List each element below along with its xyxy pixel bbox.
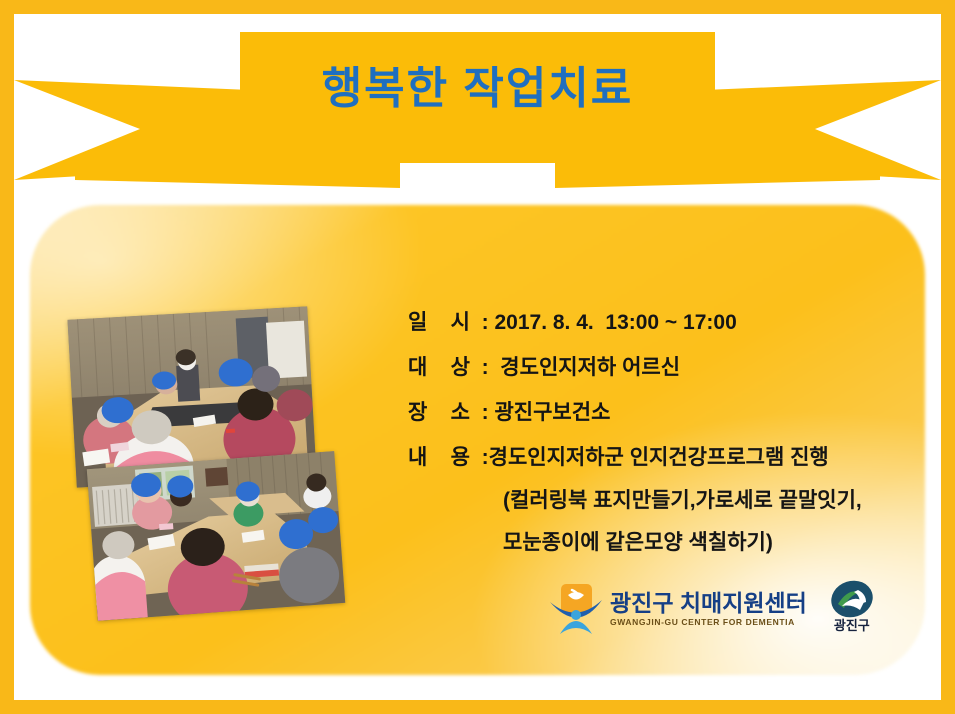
activity-photo-2	[87, 451, 345, 621]
detail-row-content-continued-1: (컬러링북 표지만들기,가로세로 끝말잇기,	[408, 480, 908, 522]
frame-border-right	[941, 0, 955, 714]
gwangjin-gu-emblem: 광진구	[821, 580, 883, 638]
frame-border-bottom	[0, 700, 955, 714]
frame-border-top	[0, 0, 955, 14]
detail-row-datetime: 일 시 : 2017. 8. 4. 13:00 ~ 17:00	[408, 300, 908, 345]
logo-subtitle: GWANGJIN-GU CENTER FOR DEMENTIA	[610, 616, 807, 628]
logo-title: 광진구 치매지원센터	[610, 590, 807, 616]
event-details: 일 시 : 2017. 8. 4. 13:00 ~ 17:00 대 상 : 경도…	[408, 300, 908, 564]
detail-row-content-continued-2: 모눈종이에 같은모양 색칠하기)	[408, 522, 908, 564]
page-title: 행복한 작업치료	[0, 52, 955, 116]
emblem-label: 광진구	[834, 619, 870, 633]
frame-border-left	[0, 0, 14, 714]
poster-canvas: 행복한 작업치료	[0, 0, 955, 714]
detail-row-target: 대 상 : 경도인지저하 어르신	[408, 345, 908, 390]
detail-row-place: 장 소 : 광진구보건소	[408, 390, 908, 435]
logo-text: 광진구 치매지원센터 GWANGJIN-GU CENTER FOR DEMENT…	[610, 590, 807, 628]
detail-row-content: 내 용 :경도인지저하군 인지건강프로그램 진행	[408, 435, 908, 480]
organization-logo: 광진구 치매지원센터 GWANGJIN-GU CENTER FOR DEMENT…	[548, 578, 893, 640]
dementia-center-icon	[548, 582, 604, 636]
